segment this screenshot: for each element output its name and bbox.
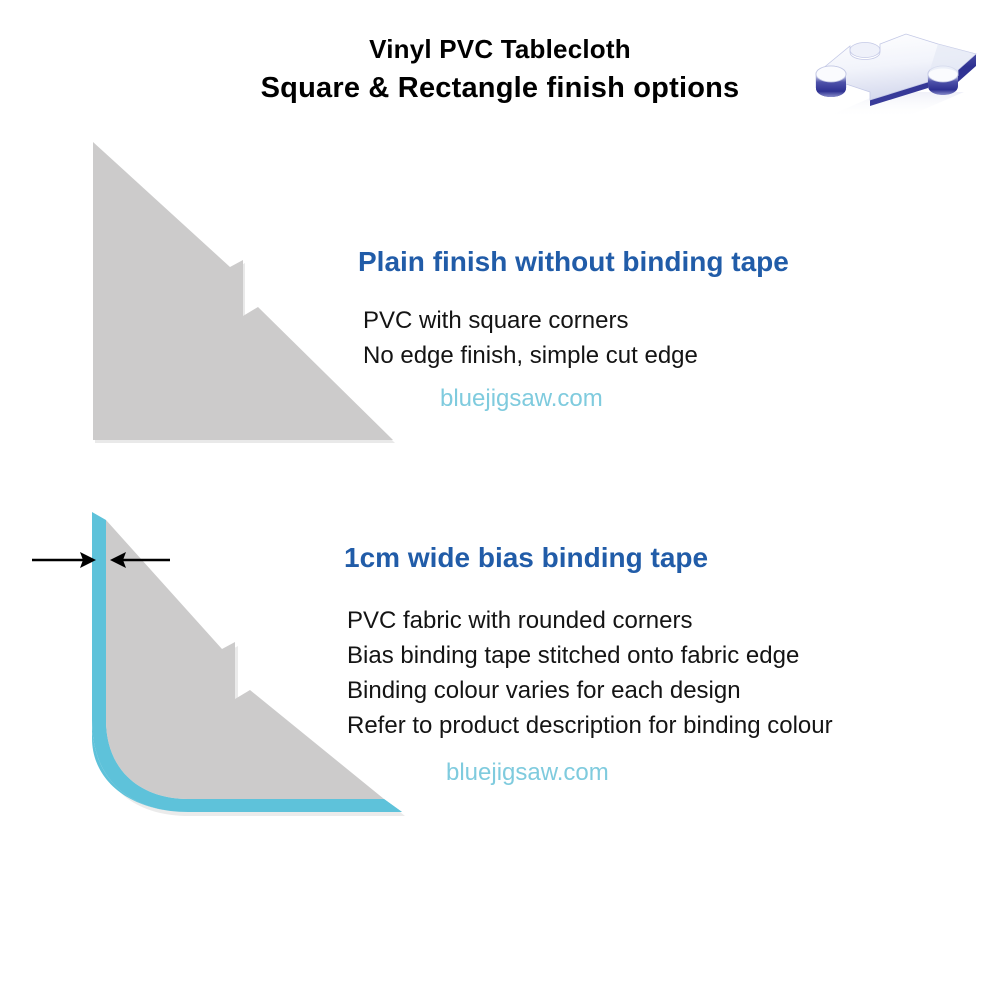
section-bullets-bias: PVC fabric with rounded corners Bias bin… xyxy=(347,603,833,743)
section-bias-binding: 1cm wide bias binding tape PVC fabric wi… xyxy=(344,541,833,789)
diagram-page: Vinyl PVC Tablecloth Square & Rectangle … xyxy=(0,0,1000,1000)
bluejigsaw-puzzle-piece-logo-icon xyxy=(788,22,984,138)
bullet-item: PVC with square corners xyxy=(363,303,789,338)
bullet-item: Binding colour varies for each design xyxy=(347,673,833,708)
section-heading-plain: Plain finish without binding tape xyxy=(358,245,789,279)
section-plain-finish: Plain finish without binding tape PVC wi… xyxy=(358,245,789,415)
bullet-item: PVC fabric with rounded corners xyxy=(347,603,833,638)
bullet-item: Refer to product description for binding… xyxy=(347,708,833,743)
bullet-item: No edge finish, simple cut edge xyxy=(363,338,789,373)
section-heading-bias: 1cm wide bias binding tape xyxy=(344,541,833,575)
brand-url-plain: bluejigsaw.com xyxy=(440,383,789,415)
bullet-item: Bias binding tape stitched onto fabric e… xyxy=(347,638,833,673)
section-bullets-plain: PVC with square corners No edge finish, … xyxy=(363,303,789,373)
brand-url-bias: bluejigsaw.com xyxy=(446,757,833,789)
